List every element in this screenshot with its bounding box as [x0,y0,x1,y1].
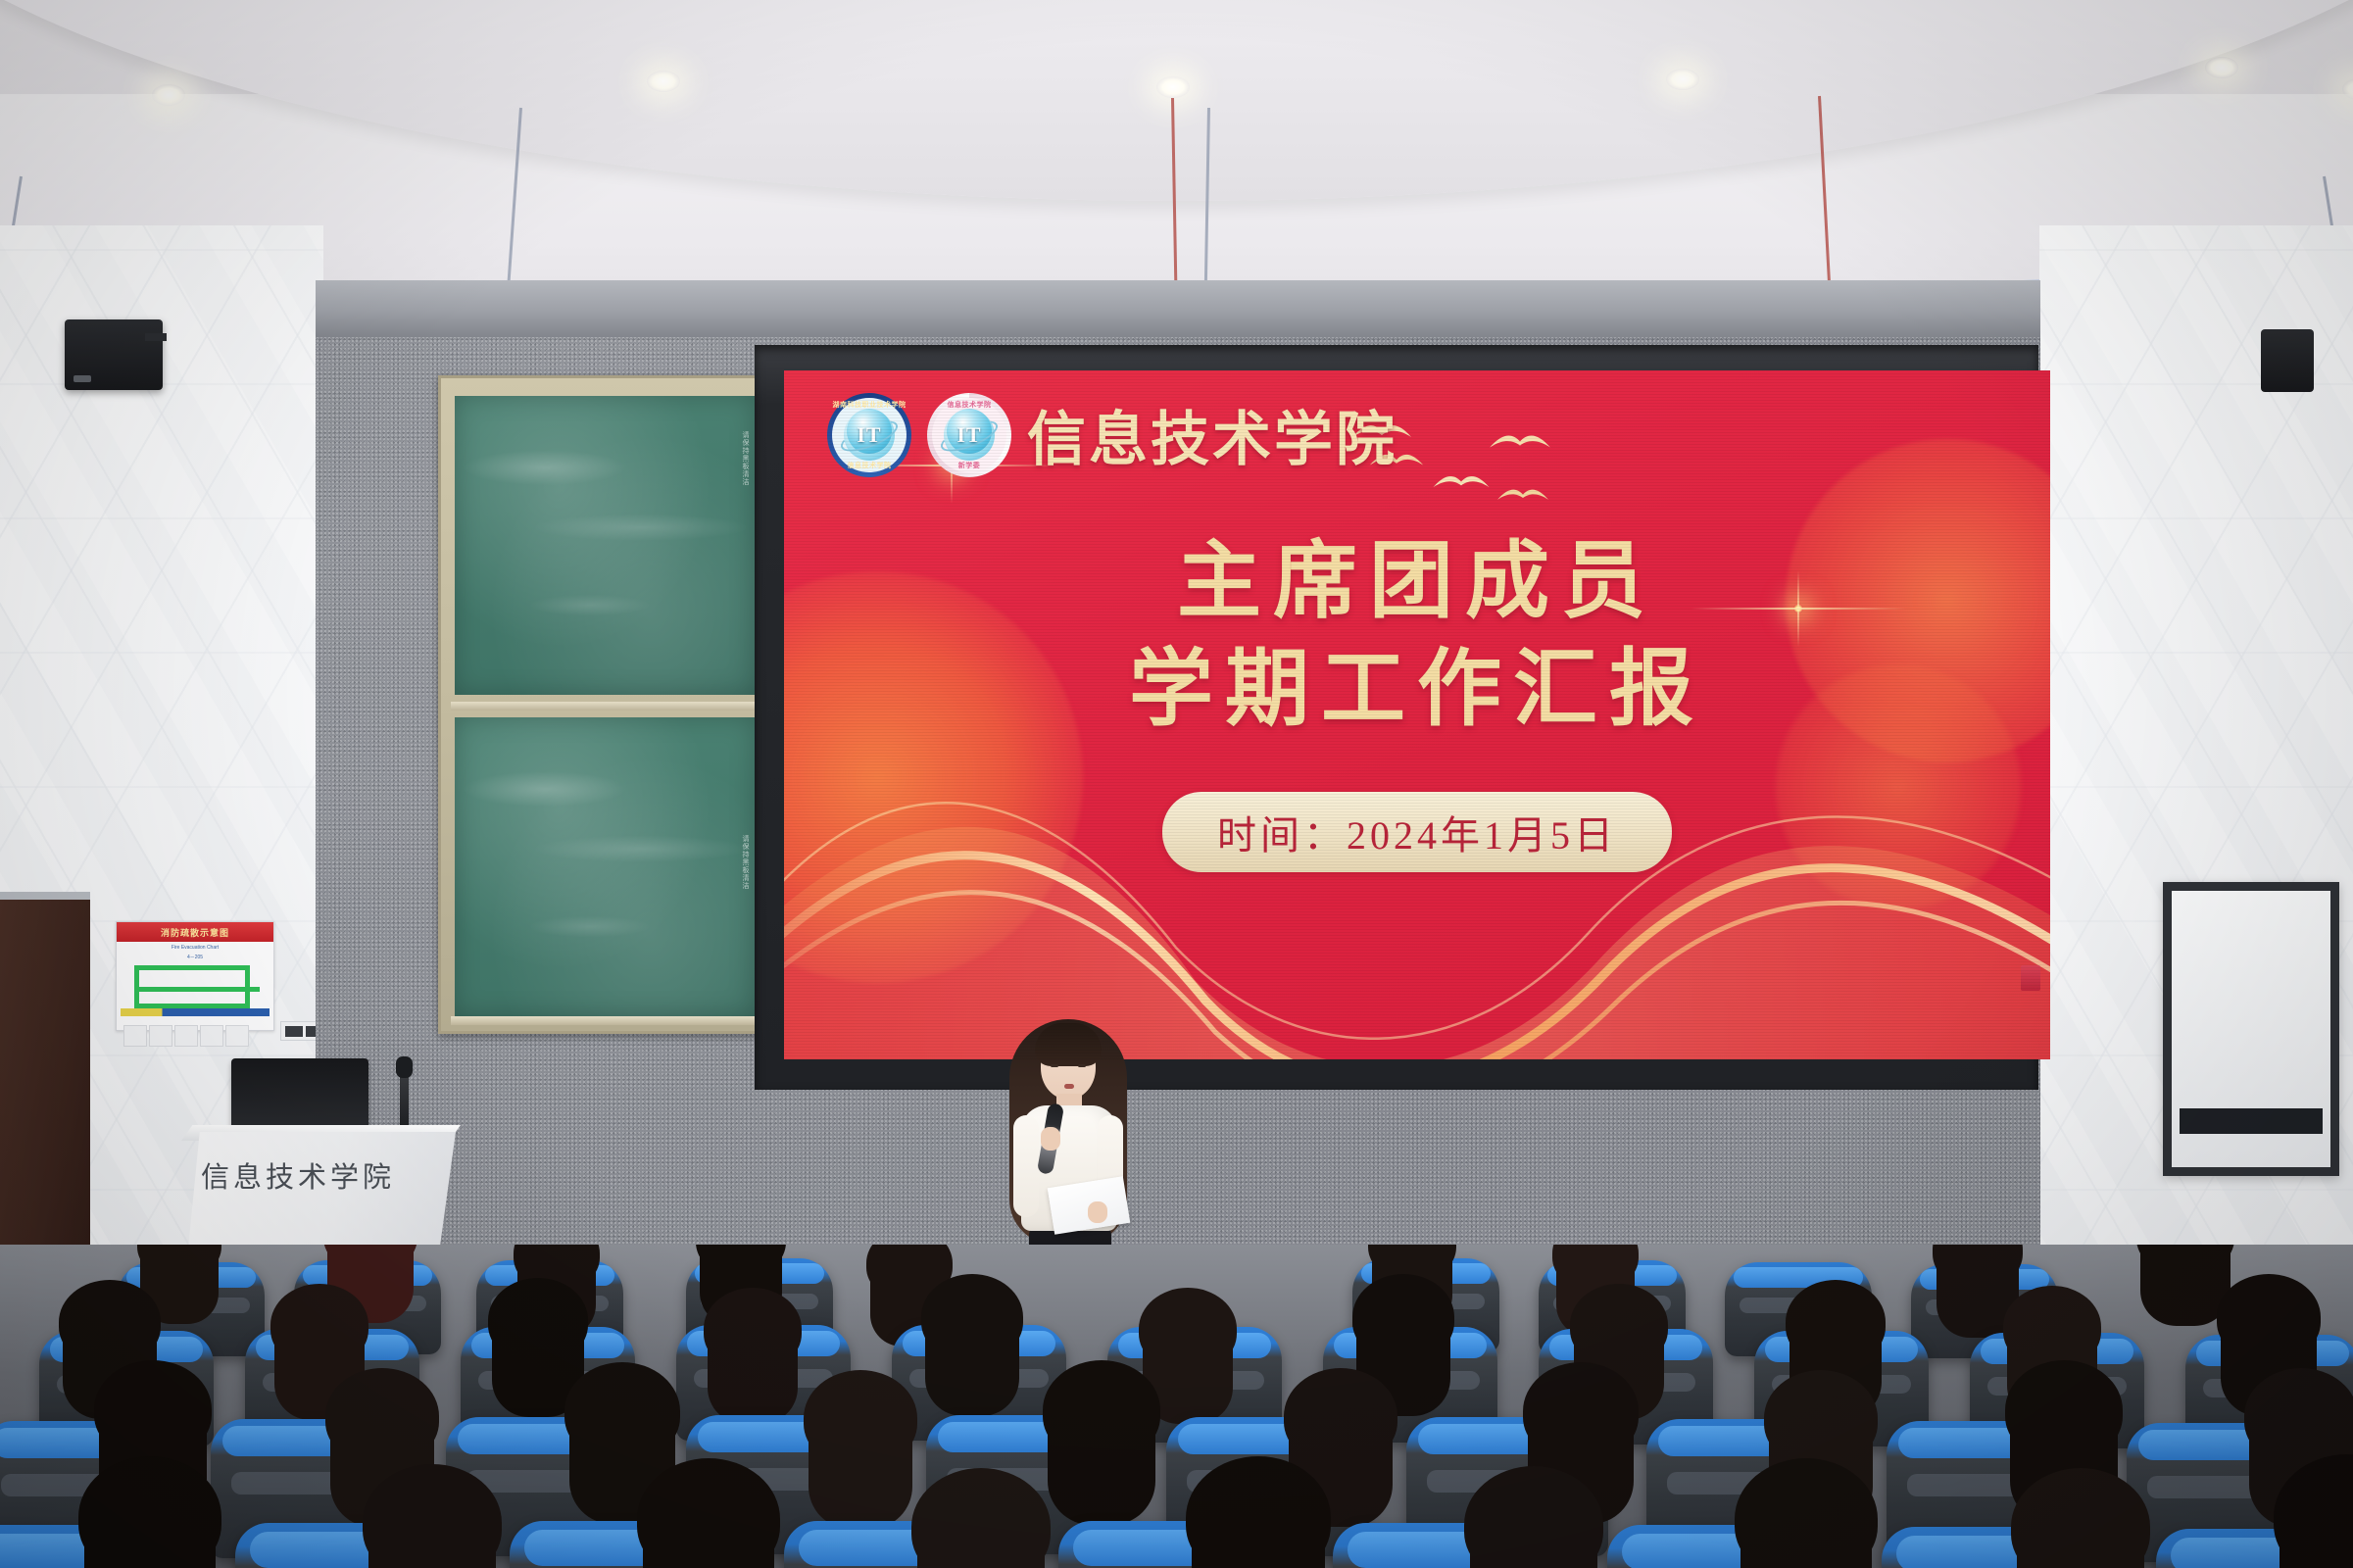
attendee-head [2003,1286,2101,1368]
college-emblem-blue-icon: IT 湖南科技职业技术学院 信息技术学院 [827,393,911,477]
attendee-head [804,1370,917,1466]
attendee-head [1786,1280,1886,1364]
blackboard-panel-top: 请保持黑板清洁 [455,396,755,695]
attendee-head [2136,1245,2234,1274]
attendee-head [637,1458,780,1568]
attendee-head [921,1274,1023,1360]
attendee-head [704,1288,802,1370]
blackboard-rail [451,702,759,710]
attendee-head [325,1368,439,1464]
attendee-head [1735,1458,1878,1568]
screen-header: IT 湖南科技职业技术学院 信息技术学院 IT 信息技术学院 新学委 信息技术学… [827,392,1397,477]
title-line-2: 学期工作汇报 [784,635,2050,743]
attendee-head [78,1456,221,1568]
attendee-head [2244,1368,2353,1464]
ceiling-downlight [152,84,185,106]
speaker-bracket [145,333,167,341]
right-whiteboard [2163,882,2339,1176]
attendee-head [696,1245,786,1276]
attendee-head [564,1362,680,1460]
blackboard-rail [451,1016,759,1025]
emblem-mark: IT [857,422,881,448]
evacuation-plan-poster: 消防疏散示意图 Fire Evacuation Chart 4－205 [116,921,274,1031]
emblem-arc-top: 湖南科技职业技术学院 [827,400,911,410]
attendee-head [1284,1368,1397,1464]
chalk-smudges [455,396,755,695]
right-hand [1088,1201,1107,1223]
eye [1078,1064,1086,1067]
stage-top-ledge [316,280,2040,337]
podium-label: 信息技术学院 [201,1154,446,1196]
hair-front [1035,1023,1102,1066]
attendee-head [59,1280,161,1364]
organization-name: 信息技术学院 [1027,392,1397,477]
bird-icon [1488,431,1552,454]
attendee-head [1523,1362,1639,1460]
chalk-smudges [455,717,755,1016]
loudspeaker-icon [65,319,163,390]
auditorium-photo: 消防疏散示意图 Fire Evacuation Chart 4－205 请保持黑… [0,0,2353,1568]
bird-icon [1431,472,1492,493]
college-emblem-pink-icon: IT 信息技术学院 新学委 [927,393,1011,477]
ceiling-downlight [1156,76,1190,98]
blackboard-side-note: 请保持黑板清洁 [740,431,750,486]
left-hand [1041,1127,1060,1151]
ceiling-downlight [2205,57,2238,78]
attendee-head [94,1360,212,1458]
attendee-head [1186,1456,1331,1568]
golden-wave-decoration [784,775,2050,1059]
attendee-head [270,1284,368,1366]
loudspeaker-icon [2261,329,2314,392]
attendee-head [323,1245,417,1272]
emblem-arc-bottom: 新学委 [927,461,1011,470]
attendee-head [1764,1370,1878,1466]
attendee-head [137,1245,221,1278]
attendee-head [1352,1274,1454,1360]
screen-title-block: 主席团成员 学期工作汇报 [784,527,2050,743]
audience-area [0,1245,2353,1568]
attendee-head [1139,1288,1237,1370]
ceiling [0,0,2353,294]
emblem-arc-bottom: 信息技术学院 [827,461,911,470]
title-line-1: 主席团成员 [784,527,2050,635]
ceiling-downlight [647,71,680,92]
led-display-screen[interactable]: IT 湖南科技职业技术学院 信息技术学院 IT 信息技术学院 新学委 信息技术学… [784,370,2050,1059]
attendee-head [1570,1284,1668,1366]
blackboard-frame: 请保持黑板清洁 请保持黑板清洁 [438,375,771,1034]
podium-monitor [231,1058,368,1135]
blackboard-panel-bottom: 请保持黑板清洁 [455,717,755,1016]
attendee-head [2217,1274,2321,1360]
attendee-head [1933,1245,2023,1288]
emblem-mark: IT [956,422,981,448]
emblem-arc-top: 信息技术学院 [927,400,1011,410]
attendee-head [1043,1360,1160,1460]
poster-room-code: 4－205 [117,954,273,960]
attendee-head [488,1278,588,1362]
ceiling-downlight [1666,69,1699,90]
poster-floorplan [134,965,250,1008]
mouth [1064,1084,1074,1089]
eye [1051,1064,1058,1067]
poster-subtitle: Fire Evacuation Chart [117,945,273,951]
left-arm [1013,1115,1039,1217]
poster-title: 消防疏散示意图 [161,926,229,939]
bird-icon [1495,486,1550,505]
attendee-head [1552,1245,1639,1290]
blackboard-side-note: 请保持黑板清洁 [740,835,750,890]
attendee-head [2005,1360,2123,1460]
screen-corner-watermark [2021,965,2040,991]
poster-title-band: 消防疏散示意图 [117,922,273,942]
poster-legend-band [121,1008,270,1016]
